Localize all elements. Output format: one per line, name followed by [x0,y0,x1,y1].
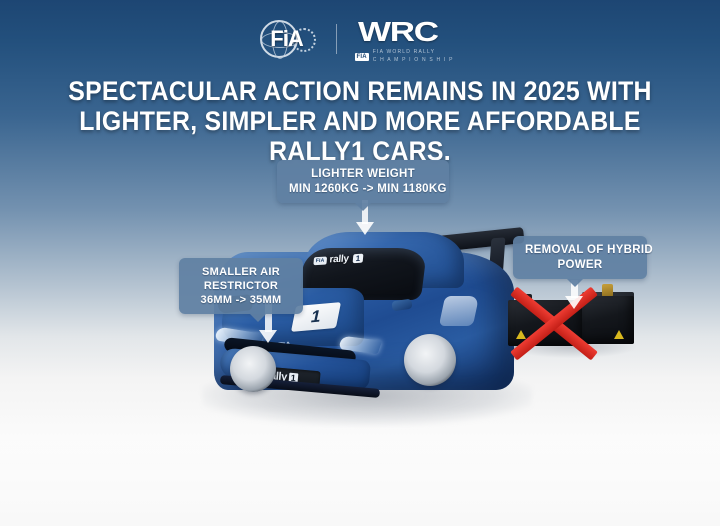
windshield-fia-badge: FIA [313,256,326,265]
front-right-wheel [404,334,456,386]
callout-hybrid-title-1: REMOVAL OF HYBRID [525,243,635,258]
logo-row: FiA WRC FIA FIA WORLD RALLY C H A M P I … [0,18,720,60]
wrc-logo-text: WRC [358,18,492,46]
wrc-fia-badge: FIA [355,53,369,61]
wrc-subtitle-line2: C H A M P I O N S H I P [373,57,454,63]
callout-restrictor-detail: 36MM -> 35MM [191,293,291,307]
headline-line-1: SPECTACULAR ACTION REMAINS IN 2025 WITH [29,76,691,106]
infographic-canvas: FiA WRC FIA FIA WORLD RALLY C H A M P I … [0,0,720,526]
fia-logo-text: FiA [256,26,318,52]
windshield-rally-number: 1 [352,254,363,264]
callout-lighter-weight: LIGHTER WEIGHT MIN 1260KG -> MIN 1180KG [277,160,449,203]
callout-restrictor-tip [250,314,266,322]
callout-smaller-air-restrictor: SMALLER AIR RESTRICTOR 36MM -> 35MM [179,258,303,314]
wrc-subtitle-line1: FIA WORLD RALLY [373,49,435,55]
side-vent [439,296,479,326]
wrc-subtitle: FIA FIA WORLD RALLY C H A M P I O N S H … [355,49,465,64]
callout-weight-title: LIGHTER WEIGHT [289,167,437,182]
headline-line-2: LIGHTER, SIMPLER AND MORE AFFORDABLE RAL… [29,106,691,166]
logo-divider [336,24,337,54]
callout-hybrid-tip [567,279,583,287]
windshield-rally-text: rally [329,253,349,265]
callout-hybrid-title-2: POWER [525,258,635,273]
car-number-text: 1 [311,307,321,327]
callout-restrictor-title-1: SMALLER AIR [191,265,291,279]
front-left-wheel [230,346,276,392]
warning-triangle-icon-right [614,330,624,339]
callout-removal-of-hybrid-power: REMOVAL OF HYBRID POWER [513,236,647,279]
callout-weight-tip [355,203,371,211]
callout-weight-detail: MIN 1260KG -> MIN 1180KG [289,182,437,197]
callout-restrictor-title-2: RESTRICTOR [191,279,291,293]
headline: SPECTACULAR ACTION REMAINS IN 2025 WITH … [29,76,691,167]
wrc-logo: WRC FIA FIA WORLD RALLY C H A M P I O N … [355,18,465,60]
fia-logo: FiA [256,19,318,59]
